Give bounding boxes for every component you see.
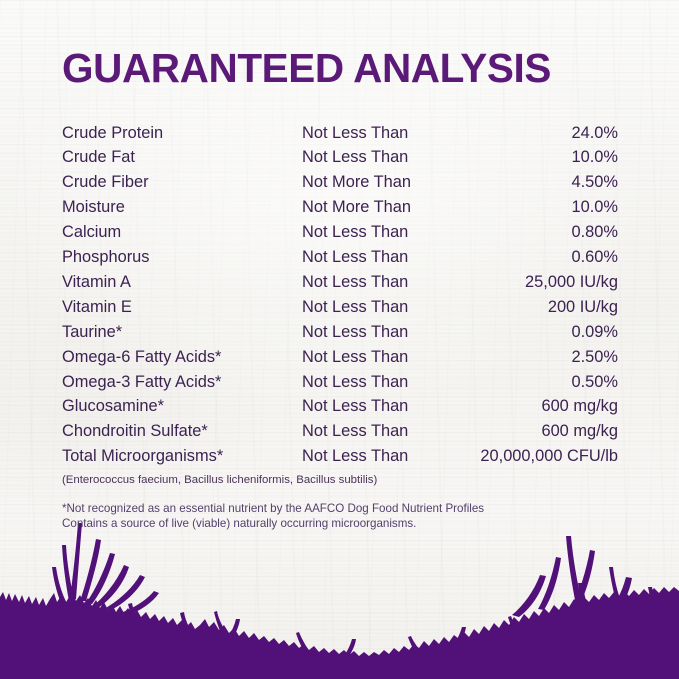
nutrient-value: 200 IU/kg [462,295,618,320]
nutrient-name: Omega-6 Fatty Acids* [62,345,302,370]
nutrient-name: Vitamin E [62,295,302,320]
nutrient-qualifier: Not Less Than [302,320,462,345]
guaranteed-analysis-label: GUARANTEED ANALYSIS Crude ProteinNot Les… [0,0,679,679]
nutrient-name: Crude Fat [62,145,302,170]
table-row: CalciumNot Less Than0.80% [62,220,618,245]
grass-silhouette-decoration [0,509,679,679]
footnote-live-cultures: Contains a source of live (viable) natur… [62,517,617,532]
nutrient-value: 0.09% [462,320,618,345]
nutrient-value: 20,000,000 CFU/lb [462,444,618,469]
nutrient-qualifier: Not Less Than [302,370,462,395]
table-row: Vitamin ANot Less Than25,000 IU/kg [62,270,618,295]
table-row: Crude FiberNot More Than4.50% [62,170,618,195]
guaranteed-analysis-table: Crude ProteinNot Less Than24.0%Crude Fat… [62,121,618,470]
footnotes: *Not recognized as an essential nutrient… [62,502,617,531]
table-row: Total Microorganisms*Not Less Than20,000… [62,444,618,469]
nutrient-value: 10.0% [462,145,618,170]
nutrient-name: Crude Protein [62,121,302,146]
table-row: Omega-3 Fatty Acids*Not Less Than0.50% [62,370,618,395]
nutrient-value: 600 mg/kg [462,419,618,444]
table-row: Vitamin ENot Less Than200 IU/kg [62,295,618,320]
nutrient-value: 10.0% [462,195,618,220]
nutrient-qualifier: Not Less Than [302,270,462,295]
nutrient-qualifier: Not Less Than [302,145,462,170]
nutrient-name: Phosphorus [62,245,302,270]
table-row: Crude FatNot Less Than10.0% [62,145,618,170]
nutrient-value: 4.50% [462,170,618,195]
microorganism-strain-note: (Enterococcus faecium, Bacillus lichenif… [62,473,617,488]
nutrient-name: Calcium [62,220,302,245]
table-row: MoistureNot More Than10.0% [62,195,618,220]
nutrient-name: Moisture [62,195,302,220]
nutrient-name: Vitamin A [62,270,302,295]
nutrient-name: Chondroitin Sulfate* [62,419,302,444]
table-row: Glucosamine*Not Less Than600 mg/kg [62,394,618,419]
table-row: Crude ProteinNot Less Than24.0% [62,121,618,146]
nutrient-value: 0.60% [462,245,618,270]
nutrient-value: 2.50% [462,345,618,370]
table-row: PhosphorusNot Less Than0.60% [62,245,618,270]
nutrient-qualifier: Not Less Than [302,295,462,320]
nutrient-qualifier: Not Less Than [302,121,462,146]
nutrient-name: Crude Fiber [62,170,302,195]
nutrient-value: 24.0% [462,121,618,146]
nutrient-qualifier: Not Less Than [302,220,462,245]
nutrient-value: 25,000 IU/kg [462,270,618,295]
nutrient-name: Omega-3 Fatty Acids* [62,370,302,395]
table-row: Taurine*Not Less Than0.09% [62,320,618,345]
nutrient-qualifier: Not Less Than [302,394,462,419]
nutrient-value: 0.50% [462,370,618,395]
table-row: Chondroitin Sulfate*Not Less Than600 mg/… [62,419,618,444]
nutrient-value: 600 mg/kg [462,394,618,419]
nutrient-qualifier: Not More Than [302,170,462,195]
nutrient-qualifier: Not More Than [302,195,462,220]
label-content: GUARANTEED ANALYSIS Crude ProteinNot Les… [0,0,679,531]
nutrient-qualifier: Not Less Than [302,419,462,444]
nutrient-value: 0.80% [462,220,618,245]
nutrient-name: Taurine* [62,320,302,345]
nutrient-qualifier: Not Less Than [302,345,462,370]
nutrient-name: Total Microorganisms* [62,444,302,469]
nutrient-qualifier: Not Less Than [302,245,462,270]
nutrient-name: Glucosamine* [62,394,302,419]
nutrient-qualifier: Not Less Than [302,444,462,469]
page-title: GUARANTEED ANALYSIS [62,48,617,89]
footnote-aafco: *Not recognized as an essential nutrient… [62,502,617,517]
table-row: Omega-6 Fatty Acids*Not Less Than2.50% [62,345,618,370]
